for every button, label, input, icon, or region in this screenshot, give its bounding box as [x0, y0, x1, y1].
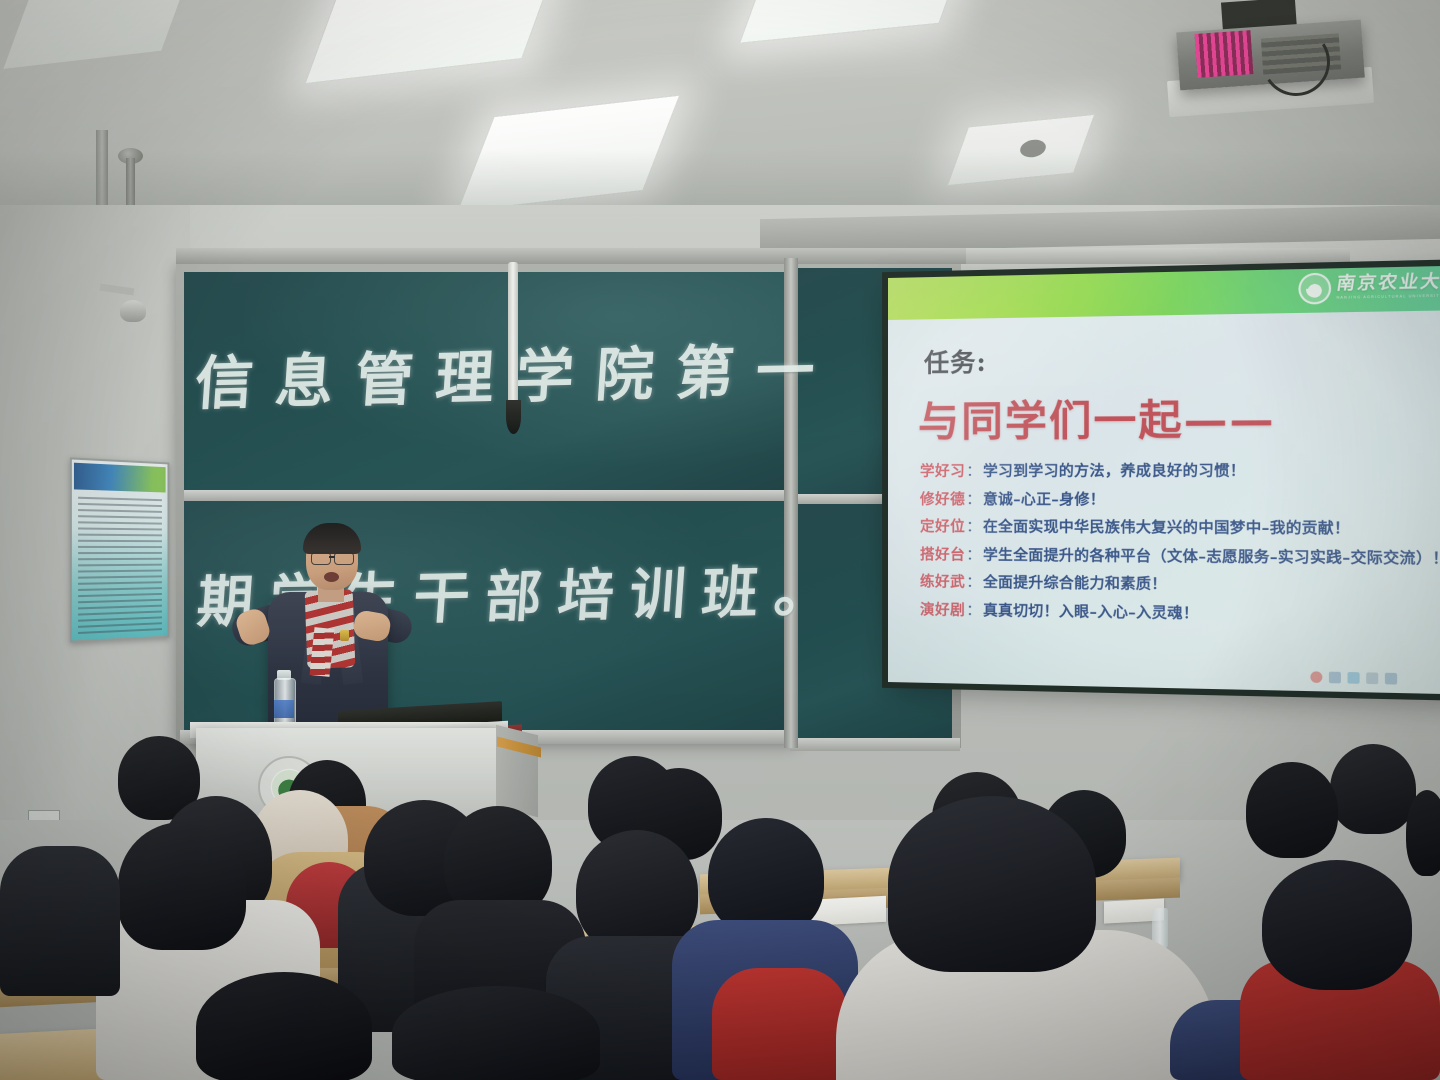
lecture-hall-photo: 信息管理学院第一 期学生干部培训班。 南京农业大学 NANJING AGRICU… — [0, 0, 1440, 1080]
slide-bullet-row: 定好位 ： 在全面实现中华民族伟大复兴的中国梦中–我的贡献！ — [920, 515, 1440, 539]
slide-bullet-list: 学好习 ： 学习到学习的方法，养成良好的习惯！ 修好德 ： 意诚–心正–身修！ … — [920, 459, 1440, 634]
red-top — [712, 968, 848, 1080]
bullet-separator: ： — [966, 488, 981, 509]
presenter-badge — [340, 630, 349, 641]
bullet-separator: ： — [966, 543, 981, 564]
hanging-microphone-cable — [508, 262, 518, 410]
audience-head-foreground — [392, 986, 600, 1080]
slide-bullet-row: 演好剧 ： 真真切切！入眼–入心–入灵魂！ — [920, 598, 1440, 627]
presenter-mouth — [324, 572, 339, 582]
ime-menu-icon[interactable] — [1385, 673, 1397, 685]
slide-body: 任务: 与同学们一起—— 学好习 ： 学习到学习的方法，养成良好的习惯！ 修好德… — [888, 310, 1440, 695]
slide-bullet-row: 搭好台 ： 学生全面提升的各种平台（文体–志愿服务–实习实践–交际交流）！ — [920, 543, 1440, 569]
bullet-separator: ： — [966, 460, 981, 481]
audience-head — [1246, 762, 1338, 858]
bullet-key: 演好剧 — [920, 598, 965, 620]
bullet-key: 修好德 — [920, 488, 965, 509]
slide-headline: 与同学们一起—— — [918, 384, 1276, 448]
projector-vent — [1195, 30, 1254, 78]
chalk-rail — [790, 738, 960, 751]
glasses-icon — [334, 552, 354, 565]
audience-head-foreground — [1262, 860, 1412, 990]
bullet-key: 练好武 — [920, 570, 965, 592]
audience-head-foreground — [888, 796, 1096, 972]
slide: 南京农业大学 NANJING AGRICULTURAL UNIVERSITY 任… — [888, 265, 1440, 694]
audience-head — [1330, 744, 1416, 834]
slide-bullet-row: 练好武 ： 全面提升综合能力和素质！ — [920, 570, 1440, 597]
bullet-key: 学好习 — [920, 460, 965, 481]
blackboard-track — [176, 248, 966, 264]
bullet-separator: ： — [966, 571, 981, 592]
bullet-separator: ： — [966, 515, 981, 536]
microphone-icon — [506, 400, 521, 434]
bullet-value: 真真切切！入眼–入心–入灵魂！ — [983, 599, 1199, 623]
bullet-value: 学生全面提升的各种平台（文体–志愿服务–实习实践–交际交流）！ — [983, 543, 1440, 568]
university-name-cn: 南京农业大学 — [1335, 273, 1440, 293]
bullet-key: 搭好台 — [920, 543, 965, 564]
ime-toolbox-icon[interactable] — [1366, 672, 1378, 684]
university-logo: 南京农业大学 NANJING AGRICULTURAL UNIVERSITY — [1298, 270, 1440, 305]
glasses-bridge — [329, 556, 335, 558]
bottle-label — [274, 700, 294, 718]
sogou-ime-icon[interactable] — [1310, 671, 1322, 683]
bullet-key: 定好位 — [920, 515, 965, 536]
ime-toolbar[interactable] — [1310, 671, 1397, 684]
camera-icon — [120, 300, 146, 322]
bullet-value: 学习到学习的方法，养成良好的习惯！ — [983, 459, 1246, 481]
audience-head — [1406, 790, 1440, 876]
slide-bullet-row: 学好习 ： 学习到学习的方法，养成良好的习惯！ — [920, 459, 1440, 481]
university-name-en: NANJING AGRICULTURAL UNIVERSITY — [1337, 295, 1440, 301]
ime-keyboard-icon[interactable] — [1348, 672, 1360, 684]
slide-task-label: 任务: — [924, 343, 987, 380]
bullet-separator: ： — [966, 598, 981, 619]
slide-bullet-row: 修好德 ： 意诚–心正–身修！ — [920, 488, 1440, 511]
glasses-icon — [311, 552, 331, 565]
audience-head — [708, 818, 824, 936]
audience-shoulders — [0, 846, 120, 996]
university-emblem-icon — [1298, 273, 1331, 305]
audience-head — [118, 822, 246, 950]
bullet-value: 全面提升综合能力和素质！ — [983, 571, 1167, 594]
university-logo-text: 南京农业大学 NANJING AGRICULTURAL UNIVERSITY — [1337, 273, 1440, 300]
bullet-value: 意诚–心正–身修！ — [983, 488, 1105, 510]
chalk-rail — [184, 490, 784, 501]
poster-banner — [74, 463, 166, 493]
wall-poster — [70, 457, 169, 642]
bullet-value: 在全面实现中华民族伟大复兴的中国梦中–我的贡献！ — [983, 515, 1350, 538]
poster-text-lines — [78, 495, 162, 634]
projection-screen[interactable]: 南京农业大学 NANJING AGRICULTURAL UNIVERSITY 任… — [888, 265, 1440, 694]
ime-mode-icon[interactable] — [1329, 672, 1341, 684]
audience-head-foreground — [196, 972, 372, 1080]
